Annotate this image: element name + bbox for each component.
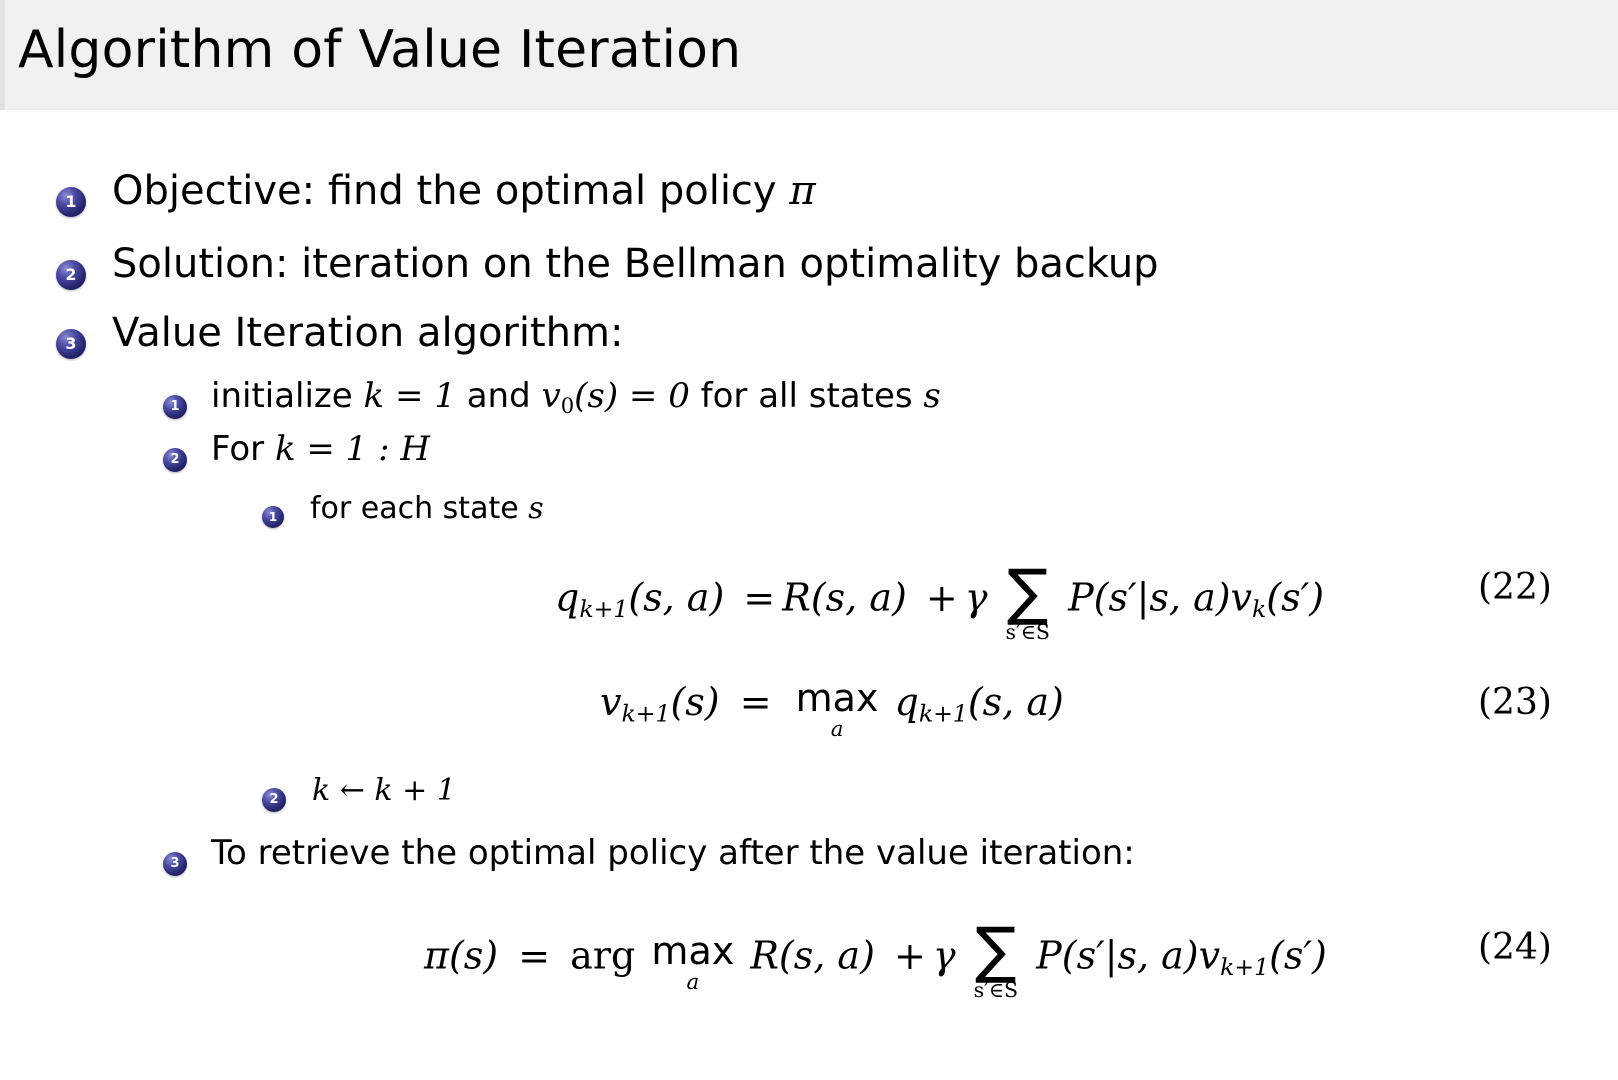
page-title: Algorithm of Value Iteration — [18, 20, 741, 80]
max-operator: max a — [796, 679, 879, 740]
equation-number-24: (24) — [1478, 927, 1552, 968]
objective-text: Objective: find the optimal policy π — [112, 168, 816, 214]
equation-q-update: qk+1(s, a) =R(s, a) +γ ∑ s′∈S P(s′|s, a)… — [555, 562, 1324, 640]
solution-text: Solution: iteration on the Bellman optim… — [112, 241, 1159, 287]
value-iteration-algorithm-text: Value Iteration algorithm: — [112, 310, 623, 356]
state-symbol: s — [528, 491, 543, 526]
initialize-text: initialize k = 1 and v0(s) = 0 for all s… — [211, 376, 941, 426]
slide-body: 1 Objective: find the optimal policy π 2… — [0, 110, 1618, 1080]
k-increment-text: k ← k + 1 — [312, 773, 456, 809]
bullet-number-icon: 1 — [163, 395, 187, 419]
summation-operator: ∑ s′∈S — [974, 922, 1018, 1000]
list-item-for-loop: 2 For k = 1 : H — [163, 429, 430, 469]
list-item-objective: 1 Objective: find the optimal policy π — [56, 168, 816, 214]
bullet-number-icon: 1 — [262, 506, 284, 528]
sigma-icon: ∑ — [1007, 564, 1048, 621]
header-accent-rule — [0, 0, 5, 110]
equation-v-update: vk+1(s) = max a qk+1(s, a) — [600, 675, 1064, 736]
v0-expression: v0(s) = 0 — [541, 376, 689, 416]
pi-symbol: π — [789, 168, 815, 214]
bullet-number-icon: 3 — [163, 852, 187, 876]
list-item-k-increment: 2 k ← k + 1 — [262, 773, 456, 809]
slide-header: Algorithm of Value Iteration — [0, 0, 1618, 110]
max-label: max — [796, 679, 879, 717]
bullet-number-icon: 2 — [262, 788, 286, 812]
k-equals-one: k = 1 — [364, 376, 456, 416]
state-symbol: s — [923, 376, 940, 416]
list-item-value-iteration-algorithm: 3 Value Iteration algorithm: — [56, 310, 623, 356]
bullet-number-icon: 3 — [56, 329, 86, 359]
summation-limit: s′∈S — [1006, 622, 1050, 643]
for-each-state-text: for each state s — [310, 491, 544, 527]
for-range: k = 1 : H — [275, 429, 430, 469]
list-item-solution: 2 Solution: iteration on the Bellman opt… — [56, 241, 1159, 287]
bullet-number-icon: 1 — [56, 187, 86, 217]
summation-operator: ∑ s′∈S — [1006, 564, 1050, 642]
list-item-retrieve-policy: 3 To retrieve the optimal policy after t… — [163, 833, 1135, 873]
max-limit: a — [686, 972, 699, 993]
sigma-icon: ∑ — [975, 922, 1016, 979]
list-item-initialize: 1 initialize k = 1 and v0(s) = 0 for all… — [163, 376, 941, 426]
bullet-number-icon: 2 — [56, 260, 86, 290]
max-limit: a — [831, 719, 844, 740]
bullet-number-icon: 2 — [163, 448, 187, 472]
equation-policy-extraction: π(s) = arg max a R(s, a) +γ ∑ s′∈S P(s′|… — [424, 920, 1327, 998]
equation-number-22: (22) — [1478, 567, 1552, 608]
summation-limit: s′∈S — [974, 980, 1018, 1001]
for-loop-text: For k = 1 : H — [211, 429, 430, 469]
list-item-for-each-state: 1 for each state s — [262, 491, 544, 527]
max-operator: max a — [651, 932, 734, 993]
equation-number-23: (23) — [1478, 682, 1552, 723]
retrieve-policy-text: To retrieve the optimal policy after the… — [211, 833, 1135, 873]
max-label: max — [651, 932, 734, 970]
